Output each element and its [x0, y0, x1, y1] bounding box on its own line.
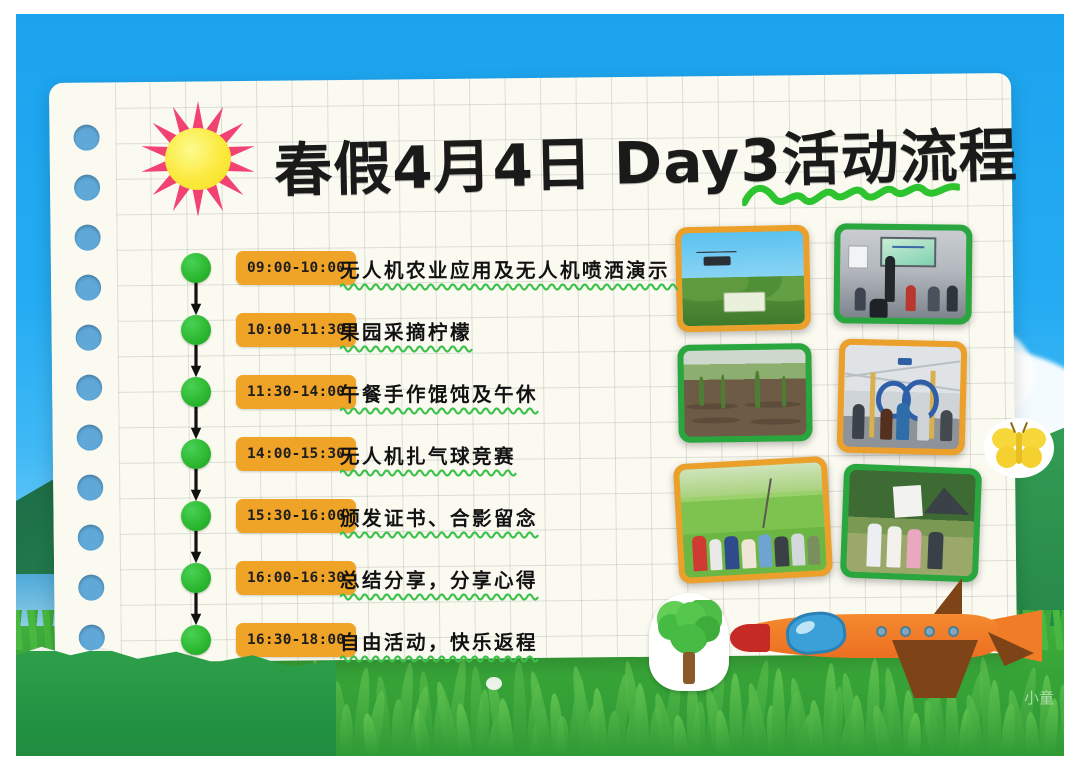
butterfly-icon	[990, 424, 1048, 472]
timeline-arrow	[189, 343, 203, 381]
timeline-dot	[181, 563, 211, 593]
poster-root: 春假4月4日 Day3活动流程 09:00-10:00无人机农业应用及无人机喷洒…	[0, 0, 1080, 770]
timeline-activity-label: 总结分享，分享心得	[340, 564, 538, 593]
timeline-time-badge[interactable]: 16:30-18:00	[236, 623, 356, 657]
wavy-underline-icon	[340, 591, 543, 601]
timeline-arrow	[189, 405, 203, 443]
timeline-time-badge[interactable]: 15:30-16:00	[236, 499, 356, 533]
watermark-text: 小童	[1024, 687, 1054, 708]
timeline-time-badge[interactable]: 11:30-14:00	[236, 375, 356, 409]
wavy-underline-icon	[340, 529, 543, 539]
timeline-dot	[181, 315, 211, 345]
timeline-activity-label: 颁发证书、合影留念	[340, 502, 538, 531]
airplane-icon	[734, 580, 1034, 690]
wavy-underline-icon	[340, 405, 543, 415]
timeline-arrow	[189, 591, 203, 629]
timeline-dot	[181, 625, 211, 655]
timeline-arrow	[189, 467, 203, 505]
timeline-time-badge[interactable]: 09:00-10:00	[236, 251, 356, 285]
timeline-activity-label: 自由活动，快乐返程	[340, 626, 538, 655]
timeline-activity-label: 午餐手作馄饨及午休	[340, 378, 538, 407]
timeline-activity-label: 无人机农业应用及无人机喷洒演示	[340, 254, 670, 283]
timeline-dot	[181, 377, 211, 407]
wavy-underline-icon	[340, 467, 520, 477]
tree-icon	[656, 600, 722, 684]
timeline-arrow	[189, 529, 203, 567]
wavy-underline-icon	[340, 653, 543, 663]
timeline-time-badge[interactable]: 14:00-15:30	[236, 437, 356, 471]
timeline-time-badge[interactable]: 16:00-16:30	[236, 561, 356, 595]
timeline-time-badge[interactable]: 10:00-11:30	[236, 313, 356, 347]
wavy-underline-icon	[340, 281, 678, 291]
timeline-activity-label: 果园采摘柠檬	[340, 316, 472, 345]
timeline-arrow	[189, 281, 203, 319]
timeline-dot	[181, 439, 211, 469]
timeline-activity-label: 无人机扎气球竞赛	[340, 440, 516, 469]
timeline-dot	[181, 501, 211, 531]
wavy-underline-icon	[340, 343, 475, 353]
timeline-dot	[181, 253, 211, 283]
